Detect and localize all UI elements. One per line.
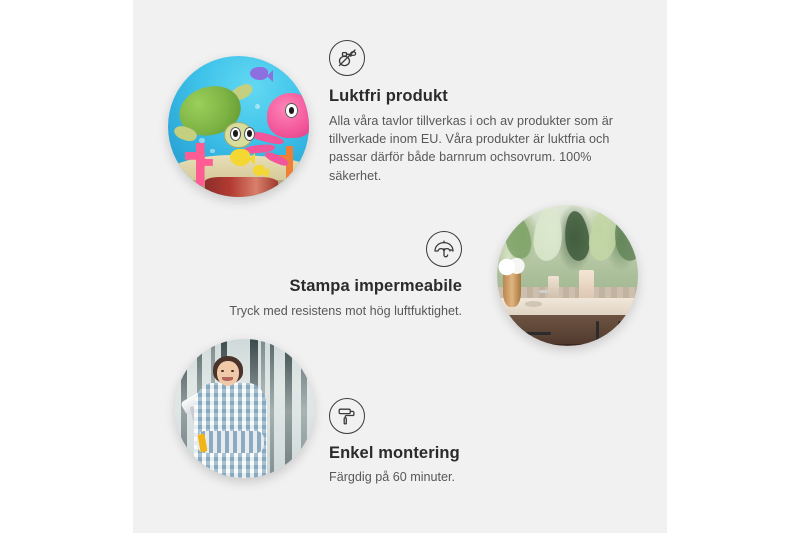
yellow-fish bbox=[230, 149, 250, 166]
face bbox=[217, 361, 239, 386]
drawer-handle bbox=[520, 332, 551, 336]
cabinet-handle bbox=[596, 321, 600, 344]
painter-scene bbox=[175, 339, 314, 478]
smile bbox=[222, 377, 233, 381]
leaf bbox=[531, 208, 564, 262]
umbrella-icon bbox=[426, 231, 462, 267]
orange-coral bbox=[274, 146, 305, 183]
cabinet-handle bbox=[618, 321, 622, 344]
photo-bathroom-wallpaper bbox=[497, 205, 638, 346]
promo-graphic: Luktfri produkt Alla våra tavlor tillver… bbox=[0, 0, 800, 533]
feature-body: Tryck med resistens mot hög luftfuktighe… bbox=[200, 302, 462, 320]
drawer-line bbox=[516, 344, 597, 345]
flowers bbox=[497, 256, 525, 279]
feature-waterproof: Stampa impermeabile Tryck med resistens … bbox=[200, 231, 462, 320]
feature-easy-mounting: Enkel montering Färgdig på 60 minuter. bbox=[329, 398, 589, 486]
underwater-scene bbox=[168, 56, 309, 197]
leaf bbox=[501, 211, 535, 261]
feature-title: Stampa impermeabile bbox=[200, 276, 462, 297]
no-odour-perfume-icon bbox=[329, 40, 365, 76]
bathroom-scene bbox=[497, 205, 638, 346]
feature-odour-free: Luktfri produkt Alla våra tavlor tillver… bbox=[329, 40, 629, 185]
turtle-eye bbox=[244, 127, 255, 141]
feature-title: Enkel montering bbox=[329, 443, 589, 464]
photo-underwater-mural bbox=[168, 56, 309, 197]
feature-title: Luktfri produkt bbox=[329, 86, 629, 107]
soap-dish bbox=[525, 301, 542, 307]
leaf bbox=[562, 210, 591, 262]
photo-painter-forest bbox=[175, 339, 314, 478]
purple-fish bbox=[250, 67, 268, 80]
feature-body: Färgdig på 60 minuter. bbox=[329, 468, 589, 486]
octopus-eye bbox=[285, 103, 298, 119]
paint-roller-icon bbox=[329, 398, 365, 434]
feature-body: Alla våra tavlor tillverkas i och av pro… bbox=[329, 112, 629, 186]
yellow-fish bbox=[253, 165, 266, 176]
shipwreck bbox=[205, 177, 278, 197]
turtle-eye bbox=[230, 127, 241, 141]
